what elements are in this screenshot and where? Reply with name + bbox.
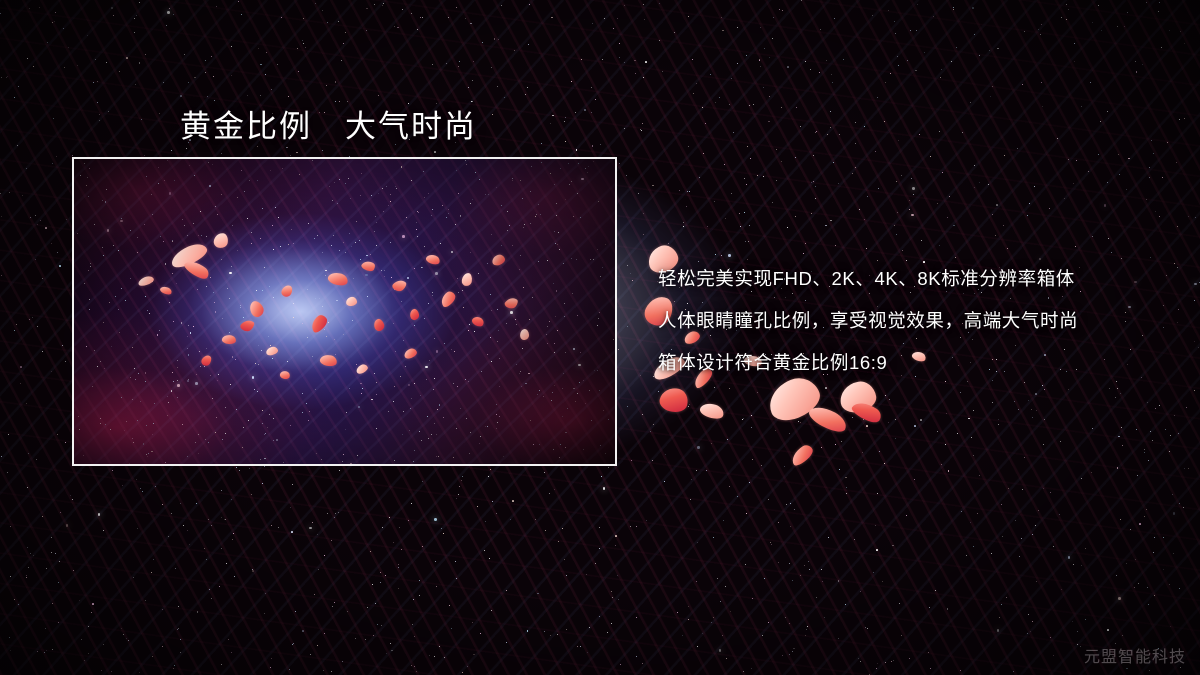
petal — [806, 402, 850, 437]
framed-image-panel — [72, 157, 617, 466]
petal — [658, 385, 691, 415]
body-text-block: 轻松完美实现FHD、2K、4K、8K标准分辨率箱体 人体眼睛瞳孔比例，享受视觉效… — [658, 258, 1158, 384]
watermark: 元盟智能科技 — [1084, 643, 1186, 667]
panel-vignette — [74, 159, 615, 464]
body-line: 轻松完美实现FHD、2K、4K、8K标准分辨率箱体 — [658, 258, 1158, 300]
petal — [788, 443, 816, 468]
body-line: 人体眼睛瞳孔比例，享受视觉效果，高端大气时尚 — [658, 300, 1158, 342]
body-line: 箱体设计符合黄金比例16:9 — [658, 342, 1158, 384]
petal — [698, 401, 725, 422]
presentation-slide: 黄金比例 大气时尚 轻松完美实现FHD、2K、4K、8K标准分辨率箱体 人体眼睛… — [0, 0, 1200, 675]
petal — [838, 379, 879, 415]
page-title: 黄金比例 大气时尚 — [180, 101, 477, 146]
petal — [850, 397, 884, 427]
